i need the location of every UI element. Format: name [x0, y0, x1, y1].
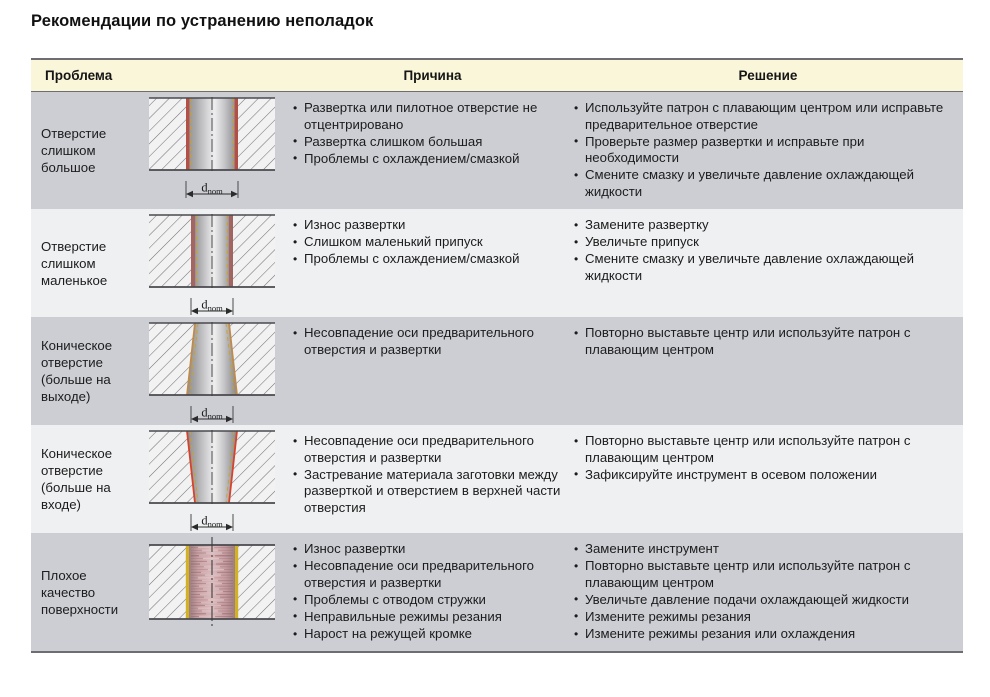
list-item: Зафиксируйте инструмент в осевом положен… — [573, 467, 955, 484]
list-item: Износ развертки — [292, 217, 567, 234]
cell-problem: Отверстие слишком маленькое — [31, 209, 132, 317]
list-item: Измените режимы резания или охлаждения — [573, 626, 955, 643]
list-item: Несовпадение оси предварительного отверс… — [292, 325, 567, 358]
list-item: Нарост на режущей кромке — [292, 626, 567, 643]
table-header: Проблема Причина Решение — [31, 60, 963, 92]
tapered-hole-wider-at-entry-diagram: dnom — [137, 425, 287, 533]
cell-solution: Используйте патрон с плавающим центром и… — [573, 92, 963, 210]
cell-cause-list: Несовпадение оси предварительного отверс… — [292, 325, 567, 358]
poor-surface-finish-diagram — [137, 533, 287, 633]
hole-too-small-diagram: dnom — [137, 209, 287, 317]
cell-problem: Коническое отверстие (больше на выходе) — [31, 317, 132, 425]
list-item: Замените развертку — [573, 217, 955, 234]
cell-solution: Повторно выставьте центр или используйте… — [573, 425, 963, 533]
cell-solution: Замените инструментПовторно выставьте це… — [573, 533, 963, 651]
list-item: Повторно выставьте центр или используйте… — [573, 433, 955, 466]
problem-label: Отверстие слишком маленькое — [41, 238, 128, 289]
list-item: Повторно выставьте центр или используйте… — [573, 325, 955, 358]
list-item: Застревание материала заготовки между ра… — [292, 467, 567, 517]
svg-text:dnom: dnom — [201, 181, 223, 197]
list-item: Проверьте размер развертки и исправьте п… — [573, 134, 955, 167]
tapered-hole-wider-at-exit-diagram: dnom — [137, 317, 287, 425]
table-row: Коническое отверстие (больше на входе) — [31, 425, 963, 533]
svg-text:dnom: dnom — [201, 406, 223, 422]
list-item: Неправильные режимы резания — [292, 609, 567, 626]
header-solution: Решение — [573, 60, 963, 92]
cell-solution-list: Используйте патрон с плавающим центром и… — [573, 100, 955, 201]
cell-cause-list: Износ разверткиНесовпадение оси предвари… — [292, 541, 567, 643]
header-row: Проблема Причина Решение — [31, 60, 963, 92]
list-item: Используйте патрон с плавающим центром и… — [573, 100, 955, 133]
troubleshooting-page: Рекомендации по устранению неполадок Про… — [0, 0, 990, 697]
cell-cause: Развертка или пилотное отверстие не отце… — [292, 92, 573, 210]
problem-label: Отверстие слишком большое — [41, 125, 128, 176]
list-item: Повторно выставьте центр или используйте… — [573, 558, 955, 591]
cell-figure — [132, 533, 292, 651]
cell-figure: dnom — [132, 209, 292, 317]
cell-solution-list: Замените инструментПовторно выставьте це… — [573, 541, 955, 643]
cell-problem: Отверстие слишком большое — [31, 92, 132, 210]
problem-label: Коническое отверстие (больше на выходе) — [41, 337, 128, 405]
cell-cause: Износ разверткиСлишком маленький припуск… — [292, 209, 573, 317]
table-row: Коническое отверстие (больше на выходе) — [31, 317, 963, 425]
cell-cause-list: Развертка или пилотное отверстие не отце… — [292, 100, 567, 167]
list-item: Проблемы с отводом стружки — [292, 592, 567, 609]
list-item: Развертка слишком большая — [292, 134, 567, 151]
cell-solution: Повторно выставьте центр или используйте… — [573, 317, 963, 425]
list-item: Износ развертки — [292, 541, 567, 558]
list-item: Несовпадение оси предварительного отверс… — [292, 433, 567, 466]
list-item: Несовпадение оси предварительного отверс… — [292, 558, 567, 591]
problem-label: Плохое качество поверхности — [41, 567, 128, 618]
troubleshooting-table-wrapper: Проблема Причина Решение Отверстие слишк… — [31, 58, 963, 653]
list-item: Смените смазку и увеличьте давление охла… — [573, 251, 955, 284]
table-row: Отверстие слишком маленькое — [31, 209, 963, 317]
svg-text:dnom: dnom — [201, 514, 223, 530]
page-title: Рекомендации по устранению неполадок — [31, 12, 373, 31]
list-item: Увеличьте припуск — [573, 234, 955, 251]
cell-solution-list: Повторно выставьте центр или используйте… — [573, 433, 955, 483]
cell-cause: Износ разверткиНесовпадение оси предвари… — [292, 533, 573, 651]
list-item: Проблемы с охлаждением/смазкой — [292, 151, 567, 168]
cell-cause-list: Несовпадение оси предварительного отверс… — [292, 433, 567, 516]
list-item: Замените инструмент — [573, 541, 955, 558]
cell-problem: Плохое качество поверхности — [31, 533, 132, 651]
cell-figure: dnom — [132, 317, 292, 425]
list-item: Смените смазку и увеличьте давление охла… — [573, 167, 955, 200]
cell-figure: dnom — [132, 425, 292, 533]
list-item: Слишком маленький припуск — [292, 234, 567, 251]
cell-solution: Замените разверткуУвеличьте припускСмени… — [573, 209, 963, 317]
hole-too-large-diagram: dnom — [137, 92, 287, 200]
table-row: Плохое качество поверхности Износ разв — [31, 533, 963, 651]
table-body: Отверстие слишком большое — [31, 92, 963, 652]
table-row: Отверстие слишком большое — [31, 92, 963, 210]
problem-label: Коническое отверстие (больше на входе) — [41, 445, 128, 513]
cell-cause-list: Износ разверткиСлишком маленький припуск… — [292, 217, 567, 268]
list-item: Измените режимы резания — [573, 609, 955, 626]
header-cause: Причина — [292, 60, 573, 92]
list-item: Увеличьте давление подачи охлаждающей жи… — [573, 592, 955, 609]
list-item: Проблемы с охлаждением/смазкой — [292, 251, 567, 268]
list-item: Развертка или пилотное отверстие не отце… — [292, 100, 567, 133]
cell-solution-list: Замените разверткуУвеличьте припускСмени… — [573, 217, 955, 284]
cell-figure: dnom — [132, 92, 292, 210]
header-problem: Проблема — [31, 60, 292, 92]
cell-solution-list: Повторно выставьте центр или используйте… — [573, 325, 955, 358]
svg-text:dnom: dnom — [201, 298, 223, 314]
cell-cause: Несовпадение оси предварительного отверс… — [292, 425, 573, 533]
cell-cause: Несовпадение оси предварительного отверс… — [292, 317, 573, 425]
cell-problem: Коническое отверстие (больше на входе) — [31, 425, 132, 533]
troubleshooting-table: Проблема Причина Решение Отверстие слишк… — [31, 60, 963, 651]
